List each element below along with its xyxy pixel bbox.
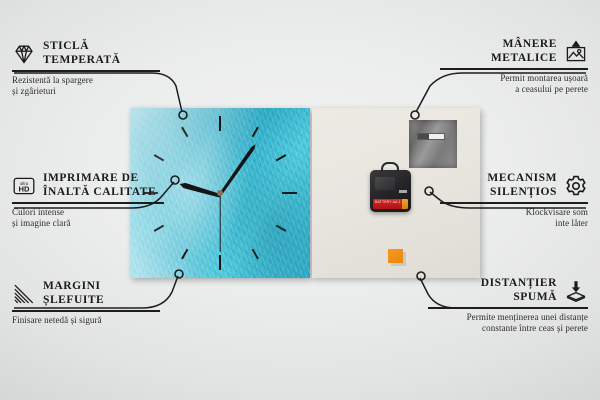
framed-picture-icon: [564, 40, 588, 64]
infographic-stage: BATTERY AA 1.5V: [0, 0, 600, 400]
feature-subtitle: Klockvisare som inte låter: [440, 207, 588, 229]
feature-subtitle: Finisare netedă și sigură: [12, 315, 160, 326]
feature-header: MECANISM SILENȚIOS: [440, 172, 588, 199]
foam-spacer: [388, 249, 403, 263]
feature-subtitle: Permite menținerea unei distanțe constan…: [428, 312, 588, 334]
feature-subtitle: Rezistentă la spargere și zgârieturi: [12, 75, 160, 97]
battery: BATTERY AA 1.5V: [373, 199, 408, 209]
hour-hand: [179, 182, 221, 199]
movement-hook: [381, 162, 399, 172]
product-images: BATTERY AA 1.5V: [130, 108, 480, 278]
feature-header: MARGINI ȘLEFUITE: [12, 280, 160, 307]
battery-tip: [402, 199, 408, 209]
feature-title: STICLĂ TEMPERATĂ: [43, 40, 121, 67]
bracket-slot: [417, 133, 445, 140]
feature-metal-handles[interactable]: MÂNERE METALICE Permit montarea ușoară a…: [440, 38, 588, 95]
second-hand: [219, 194, 220, 252]
feature-high-quality-print[interactable]: ultra HD IMPRIMARE DE ÎNALTĂ CALITATE Cu…: [12, 172, 164, 229]
press-down-icon: [564, 279, 588, 303]
feature-header: DISTANȚIER SPUMĂ: [428, 277, 588, 304]
feature-polished-edges[interactable]: MARGINI ȘLEFUITE Finisare netedă și sigu…: [12, 280, 160, 326]
feature-subtitle: Culori intense și imagine clară: [12, 207, 164, 229]
ultra-hd-icon: ultra HD: [12, 174, 36, 198]
feature-foam-spacer[interactable]: DISTANȚIER SPUMĂ Permite menținerea unei…: [428, 277, 588, 334]
feature-tempered-glass[interactable]: STICLĂ TEMPERATĂ Rezistentă la spargere …: [12, 40, 160, 97]
feature-header: MÂNERE METALICE: [440, 38, 588, 65]
svg-text:HD: HD: [19, 184, 30, 193]
diamond-icon: [12, 42, 36, 66]
feature-divider: [440, 202, 588, 204]
feature-divider: [440, 68, 588, 70]
hands-center-cap: [217, 190, 223, 196]
feature-divider: [12, 202, 164, 204]
feature-title: MARGINI ȘLEFUITE: [43, 280, 104, 307]
feature-title: MÂNERE METALICE: [491, 38, 557, 65]
feature-header: STICLĂ TEMPERATĂ: [12, 40, 160, 67]
feature-title: MECANISM SILENȚIOS: [487, 172, 557, 199]
minute-hand: [218, 143, 257, 196]
clock-movement: BATTERY AA 1.5V: [370, 170, 411, 212]
feature-divider: [12, 310, 160, 312]
feature-header: ultra HD IMPRIMARE DE ÎNALTĂ CALITATE: [12, 172, 164, 199]
metal-bracket: [409, 120, 457, 168]
feature-silent-mechanism[interactable]: MECANISM SILENȚIOS Klockvisare som inte …: [440, 172, 588, 229]
feature-divider: [12, 70, 160, 72]
movement-mark: [399, 190, 407, 193]
feature-title: IMPRIMARE DE ÎNALTĂ CALITATE: [43, 172, 156, 199]
feature-subtitle: Permit montarea ușoară a ceasului pe per…: [440, 73, 588, 95]
feature-title: DISTANȚIER SPUMĂ: [481, 277, 557, 304]
feature-divider: [428, 307, 588, 309]
hatched-edge-icon: [12, 282, 36, 306]
movement-dial: [375, 177, 395, 190]
gear-icon: [564, 174, 588, 198]
